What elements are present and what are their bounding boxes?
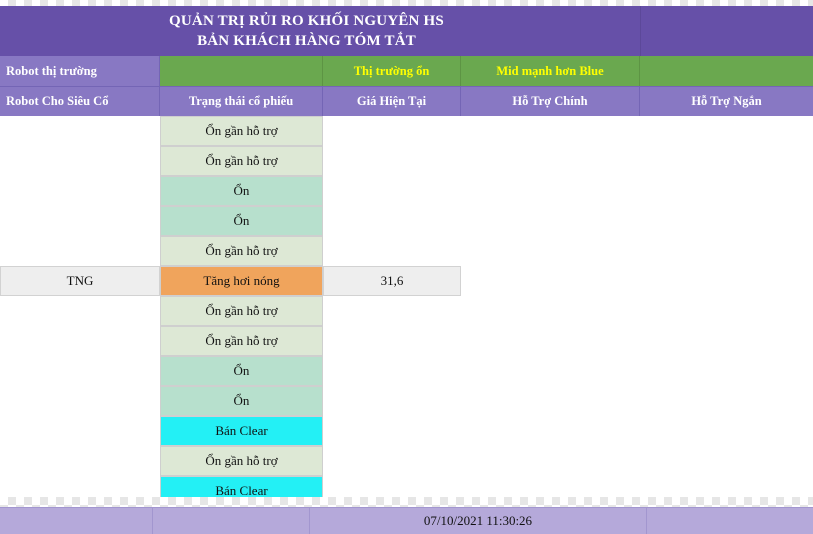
column-header-short-support[interactable]: Hỗ Trợ Ngắn — [640, 86, 813, 116]
cell-short-support[interactable] — [640, 206, 813, 236]
table-row[interactable]: Ổn gần hỗ trợ — [0, 116, 813, 146]
cell-main-support[interactable] — [461, 386, 640, 416]
cell-main-support[interactable] — [461, 416, 640, 446]
table-row[interactable]: Ổn gần hỗ trợ — [0, 326, 813, 356]
page-title-line-2: BẢN KHÁCH HÀNG TÓM TẮT — [197, 31, 416, 51]
cell-ticker[interactable] — [0, 236, 160, 266]
cell-main-support[interactable] — [461, 176, 640, 206]
cell-status[interactable]: Ổn — [160, 356, 323, 386]
header-banner-cell-mid-stronger-blue: Mid mạnh hơn Blue — [461, 56, 640, 86]
page-title-line-1: QUẢN TRỊ RỦI RO KHỐI NGUYÊN HS — [169, 11, 444, 31]
table-row[interactable]: TNGTăng hơi nóng31,6 — [0, 266, 813, 296]
summary-table: Robot thị trường Thị trường ổn Mid mạnh … — [0, 56, 813, 506]
cell-status[interactable]: Ổn — [160, 386, 323, 416]
cell-main-support[interactable] — [461, 266, 640, 296]
table-header-row-columns: Robot Cho Siêu Cổ Trạng thái cổ phiếu Gi… — [0, 86, 813, 116]
column-header-ticker[interactable]: Robot Cho Siêu Cổ — [0, 86, 160, 116]
cell-ticker[interactable] — [0, 176, 160, 206]
cell-status[interactable]: Ổn gần hỗ trợ — [160, 326, 323, 356]
risk-management-summary-window: QUẢN TRỊ RỦI RO KHỐI NGUYÊN HS BẢN KHÁCH… — [0, 0, 813, 534]
table-body: Ổn gần hỗ trợỔn gần hỗ trợỔnỔnỔn gần hỗ … — [0, 116, 813, 506]
cell-current-price[interactable] — [323, 416, 461, 446]
cell-status[interactable]: Ổn gần hỗ trợ — [160, 296, 323, 326]
cell-short-support[interactable] — [640, 416, 813, 446]
table-row[interactable]: Ổn — [0, 206, 813, 236]
table-row[interactable]: Ổn gần hỗ trợ — [0, 146, 813, 176]
cell-short-support[interactable] — [640, 236, 813, 266]
cell-ticker[interactable] — [0, 416, 160, 446]
header-banner-cell-market-stable: Thị trường ổn — [323, 56, 461, 86]
cell-short-support[interactable] — [640, 326, 813, 356]
header-banner-cell-4 — [640, 56, 813, 86]
cell-current-price[interactable] — [323, 446, 461, 476]
cell-status[interactable]: Ổn gần hỗ trợ — [160, 236, 323, 266]
header-robot-market-label: Robot thị trường — [0, 56, 160, 86]
cell-current-price[interactable] — [323, 386, 461, 416]
cell-current-price[interactable] — [323, 146, 461, 176]
cell-status[interactable]: Ổn — [160, 206, 323, 236]
cell-main-support[interactable] — [461, 446, 640, 476]
cell-ticker[interactable] — [0, 206, 160, 236]
cell-status[interactable]: Tăng hơi nóng — [160, 266, 323, 296]
cell-short-support[interactable] — [640, 446, 813, 476]
cell-ticker[interactable] — [0, 146, 160, 176]
cell-main-support[interactable] — [461, 236, 640, 266]
cell-ticker[interactable] — [0, 296, 160, 326]
cell-current-price[interactable] — [323, 236, 461, 266]
table-header-row-market: Robot thị trường Thị trường ổn Mid mạnh … — [0, 56, 813, 86]
cell-current-price[interactable] — [323, 176, 461, 206]
footer-gap — [0, 497, 813, 507]
table-row[interactable]: Ổn — [0, 356, 813, 386]
cell-current-price[interactable] — [323, 326, 461, 356]
table-row[interactable]: Ổn gần hỗ trợ — [0, 236, 813, 266]
cell-main-support[interactable] — [461, 326, 640, 356]
cell-current-price[interactable] — [323, 296, 461, 326]
cell-ticker[interactable] — [0, 356, 160, 386]
title-banner-divider — [640, 6, 641, 56]
cell-ticker[interactable] — [0, 326, 160, 356]
cell-short-support[interactable] — [640, 176, 813, 206]
header-banner-cell-1 — [160, 56, 323, 86]
cell-status[interactable]: Ổn gần hỗ trợ — [160, 146, 323, 176]
footer-bar: 07/10/2021 11:30:26 — [0, 507, 813, 534]
cell-main-support[interactable] — [461, 206, 640, 236]
cell-ticker[interactable] — [0, 386, 160, 416]
cell-current-price[interactable] — [323, 206, 461, 236]
table-row[interactable]: Ổn — [0, 176, 813, 206]
cell-main-support[interactable] — [461, 116, 640, 146]
cell-ticker[interactable] — [0, 116, 160, 146]
cell-current-price[interactable]: 31,6 — [323, 266, 461, 296]
cell-main-support[interactable] — [461, 146, 640, 176]
cell-short-support[interactable] — [640, 266, 813, 296]
footer-cell-status — [153, 507, 309, 534]
cell-status[interactable]: Ổn gần hỗ trợ — [160, 446, 323, 476]
cell-current-price[interactable] — [323, 116, 461, 146]
cell-short-support[interactable] — [640, 386, 813, 416]
footer-timestamp: 07/10/2021 11:30:26 — [310, 507, 647, 534]
cell-current-price[interactable] — [323, 356, 461, 386]
cell-status[interactable]: Ổn — [160, 176, 323, 206]
table-row[interactable]: Ổn — [0, 386, 813, 416]
table-row[interactable]: Ổn gần hỗ trợ — [0, 446, 813, 476]
column-header-status[interactable]: Trạng thái cổ phiếu — [160, 86, 323, 116]
cell-ticker[interactable]: TNG — [0, 266, 160, 296]
table-row[interactable]: Bán Clear — [0, 416, 813, 446]
footer-cell-end — [647, 507, 813, 534]
column-header-main-support[interactable]: Hỗ Trợ Chính — [461, 86, 640, 116]
cell-short-support[interactable] — [640, 356, 813, 386]
column-header-current-price[interactable]: Giá Hiện Tại — [323, 86, 461, 116]
cell-ticker[interactable] — [0, 446, 160, 476]
cell-short-support[interactable] — [640, 146, 813, 176]
cell-main-support[interactable] — [461, 296, 640, 326]
cell-status[interactable]: Bán Clear — [160, 416, 323, 446]
table-row[interactable]: Ổn gần hỗ trợ — [0, 296, 813, 326]
cell-short-support[interactable] — [640, 116, 813, 146]
footer-cell-ticker — [0, 507, 153, 534]
cell-short-support[interactable] — [640, 296, 813, 326]
cell-status[interactable]: Ổn gần hỗ trợ — [160, 116, 323, 146]
cell-main-support[interactable] — [461, 356, 640, 386]
title-banner: QUẢN TRỊ RỦI RO KHỐI NGUYÊN HS BẢN KHÁCH… — [0, 6, 813, 56]
